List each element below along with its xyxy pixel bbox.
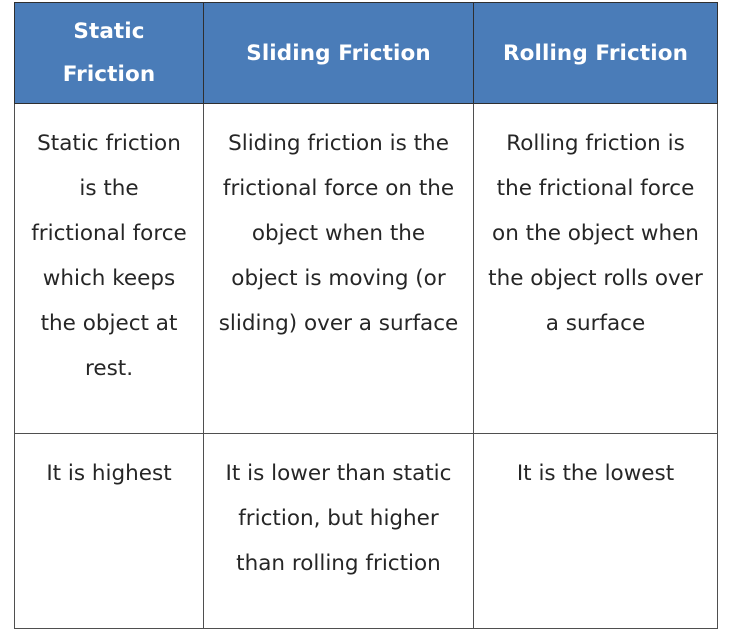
column-header-static-friction: Static Friction — [15, 3, 204, 104]
cell-text: It is lower than static friction, but hi… — [218, 451, 459, 586]
column-header-sliding-friction: Sliding Friction — [204, 3, 474, 104]
table-row: It is highest It is lower than static fr… — [15, 434, 718, 629]
cell-text: Static friction is the frictional force … — [29, 121, 189, 391]
column-header-rolling-friction: Rolling Friction — [474, 3, 718, 104]
table-header: Static Friction Sliding Friction Rolling… — [15, 3, 718, 104]
cell-sliding-friction-definition: Sliding friction is the frictional force… — [204, 104, 474, 434]
page-root: Static Friction Sliding Friction Rolling… — [0, 0, 750, 640]
cell-text: It is the lowest — [488, 451, 703, 496]
table-row: Static friction is the frictional force … — [15, 104, 718, 434]
cell-text: Sliding friction is the frictional force… — [218, 121, 459, 346]
cell-text: Rolling friction is the frictional force… — [488, 121, 703, 346]
cell-sliding-friction-magnitude: It is lower than static friction, but hi… — [204, 434, 474, 629]
cell-rolling-friction-magnitude: It is the lowest — [474, 434, 718, 629]
cell-rolling-friction-definition: Rolling friction is the frictional force… — [474, 104, 718, 434]
cell-text: It is highest — [29, 451, 189, 496]
friction-comparison-table: Static Friction Sliding Friction Rolling… — [14, 2, 718, 629]
cell-static-friction-magnitude: It is highest — [15, 434, 204, 629]
table-body: Static friction is the frictional force … — [15, 104, 718, 629]
cell-static-friction-definition: Static friction is the frictional force … — [15, 104, 204, 434]
table-header-row: Static Friction Sliding Friction Rolling… — [15, 3, 718, 104]
